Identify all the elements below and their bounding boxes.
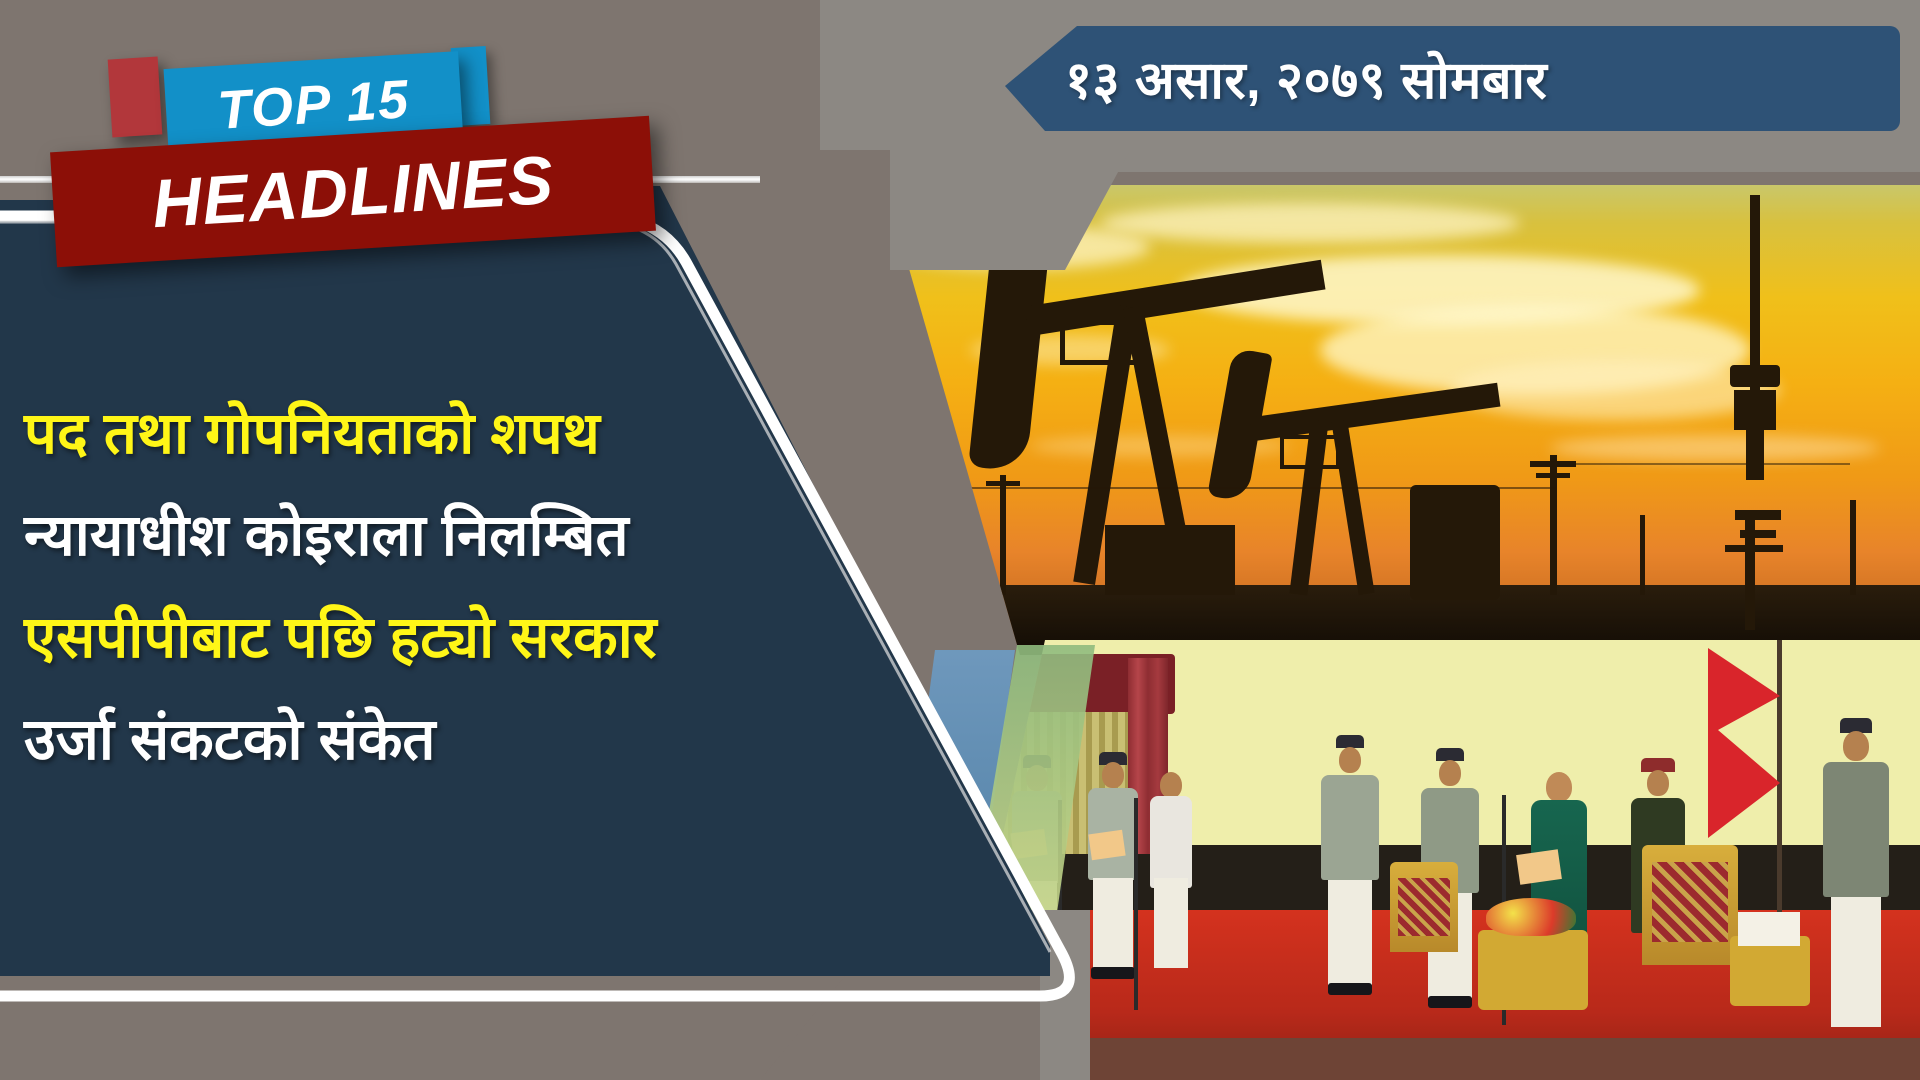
logo-red-tick-icon (108, 57, 163, 138)
headline-item-2[interactable]: न्यायाधीश कोइराला निलम्बित (24, 507, 1024, 565)
official-right (1820, 718, 1892, 1048)
document-box (1738, 912, 1800, 946)
headline-item-4[interactable]: उर्जा संकटको संकेत (24, 711, 1024, 769)
logo-top15-label: TOP 15 (216, 72, 411, 138)
headline-graphic: पद तथा गोपनियताको शपथ न्यायाधीश कोइराला … (0, 0, 1920, 1080)
microphone-stand-2 (1134, 798, 1138, 1010)
flower-table (1478, 930, 1588, 1010)
headline-item-3[interactable]: एसपीपीबाट पछि हट्यो सरकार (24, 609, 1024, 667)
official-oath-2 (1086, 752, 1140, 1007)
date-ribbon: १३ असार, २०७९ सोमबार (1005, 26, 1900, 131)
headline-list: पद तथा गोपनियताको शपथ न्यायाधीश कोइराला … (24, 405, 1024, 813)
logo-headlines-label: HEADLINES (150, 145, 555, 237)
minister-standing-1 (1320, 735, 1380, 1025)
logo-headlines-chip: HEADLINES (50, 116, 656, 267)
official-masked-3 (1148, 766, 1194, 976)
date-text: १३ असार, २०७९ सोमबार (1005, 43, 1547, 114)
top15-headlines-logo: TOP 15 HEADLINES (40, 44, 680, 284)
side-table (1730, 936, 1810, 1006)
flower-garland (1486, 898, 1576, 936)
headline-item-1[interactable]: पद तथा गोपनियताको शपथ (24, 405, 1024, 463)
design-wedge-taupe-bottom (760, 970, 1040, 1080)
